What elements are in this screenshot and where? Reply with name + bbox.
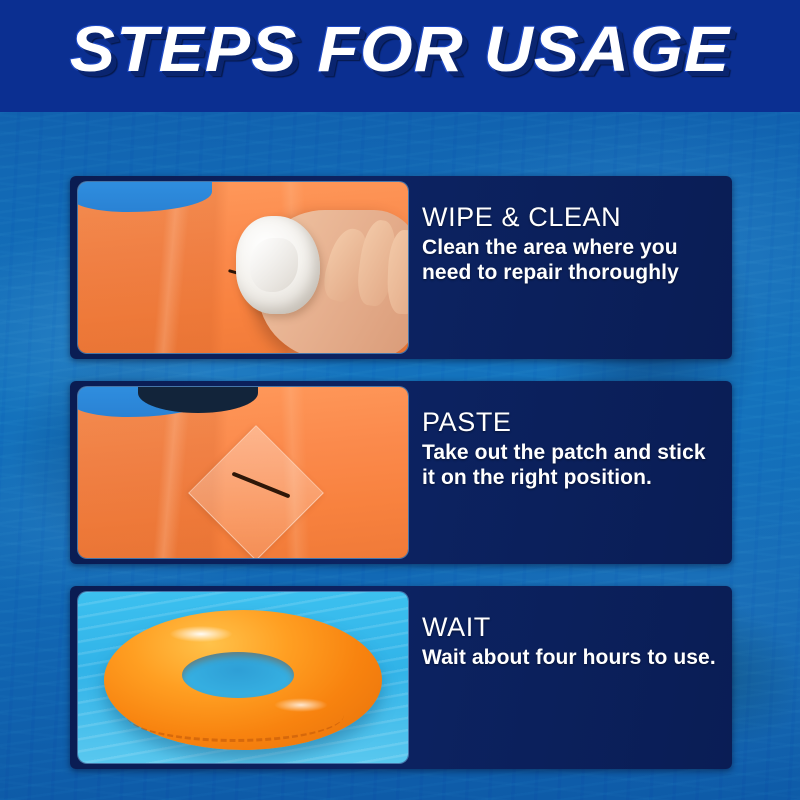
tissue-image — [236, 216, 320, 314]
header-banner: STEPS FOR USAGE — [0, 0, 800, 112]
step-text-paste: PASTE Take out the patch and stick it on… — [408, 381, 732, 564]
steps-list: WIPE & CLEAN Clean the area where you ne… — [70, 176, 732, 769]
step-body: Clean the area where you need to repair … — [422, 235, 718, 285]
step-card-wipe-clean: WIPE & CLEAN Clean the area where you ne… — [70, 176, 732, 359]
page-title: STEPS FOR USAGE — [0, 17, 800, 81]
step-text-wipe-clean: WIPE & CLEAN Clean the area where you ne… — [408, 176, 732, 359]
step-heading: WIPE & CLEAN — [422, 202, 718, 232]
step-heading: PASTE — [422, 407, 718, 437]
step-text-wait: WAIT Wait about four hours to use. — [408, 586, 732, 769]
step-photo-wait — [78, 592, 408, 763]
step-body: Take out the patch and stick it on the r… — [422, 440, 718, 490]
step-photo-paste — [78, 387, 408, 558]
step-body: Wait about four hours to use. — [422, 645, 718, 670]
swim-ring-highlight — [170, 626, 232, 642]
swim-ring-seam — [126, 688, 344, 742]
step-card-paste: PASTE Take out the patch and stick it on… — [70, 381, 732, 564]
step-card-wait: WAIT Wait about four hours to use. — [70, 586, 732, 769]
step-photo-wipe-clean — [78, 182, 408, 353]
step-heading: WAIT — [422, 612, 718, 642]
